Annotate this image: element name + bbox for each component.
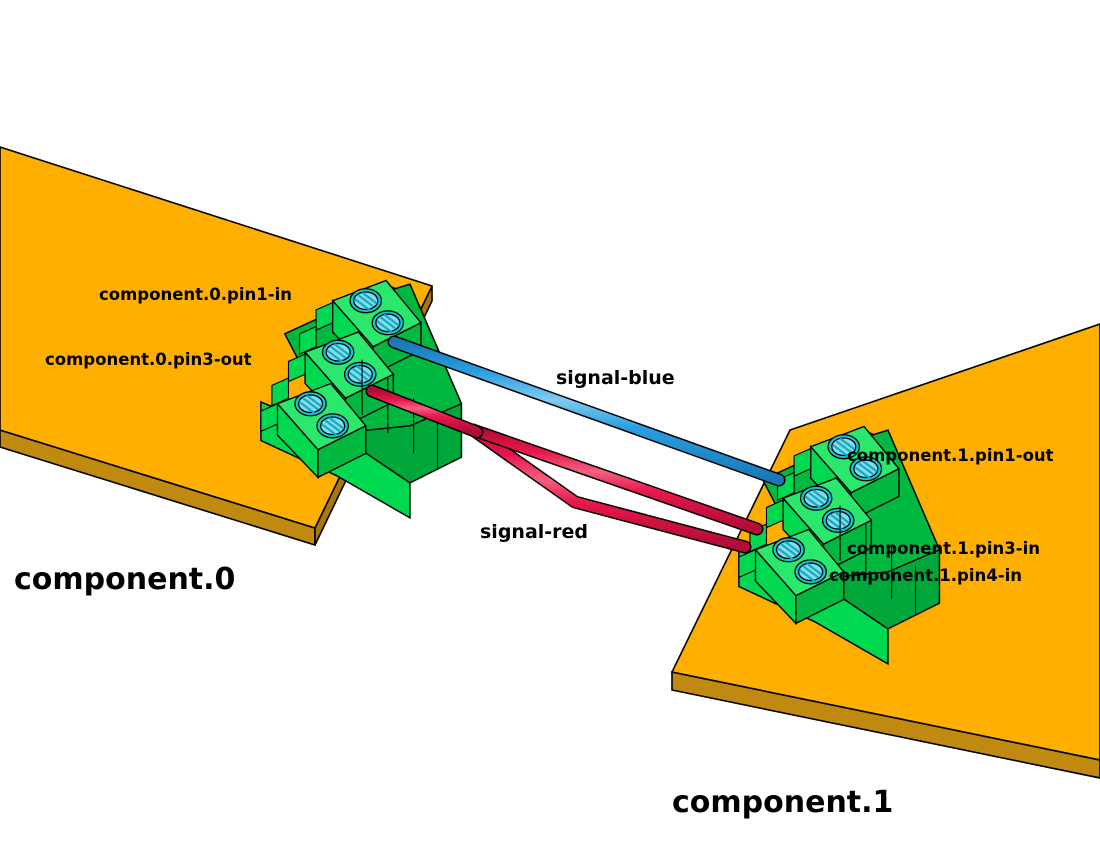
label-c1-pin3-in: component.1.pin3-in xyxy=(847,539,1040,558)
label-board-component-0: component.0 xyxy=(14,562,235,597)
label-c1-pin1-out: component.1.pin1-out xyxy=(847,446,1054,465)
label-signal-blue: signal-blue xyxy=(556,367,675,389)
label-c0-pin3-out: component.0.pin3-out xyxy=(45,350,252,369)
label-c1-pin4-in: component.1.pin4-in xyxy=(829,566,1022,585)
label-c0-pin1-in: component.0.pin1-in xyxy=(99,285,292,304)
diagram-canvas: component.0.pin1-in component.0.pin3-out… xyxy=(0,0,1100,850)
label-board-component-1: component.1 xyxy=(672,785,893,820)
label-signal-red: signal-red xyxy=(480,521,588,543)
wiring-diagram-svg: component.0.pin1-in component.0.pin3-out… xyxy=(0,0,1100,850)
